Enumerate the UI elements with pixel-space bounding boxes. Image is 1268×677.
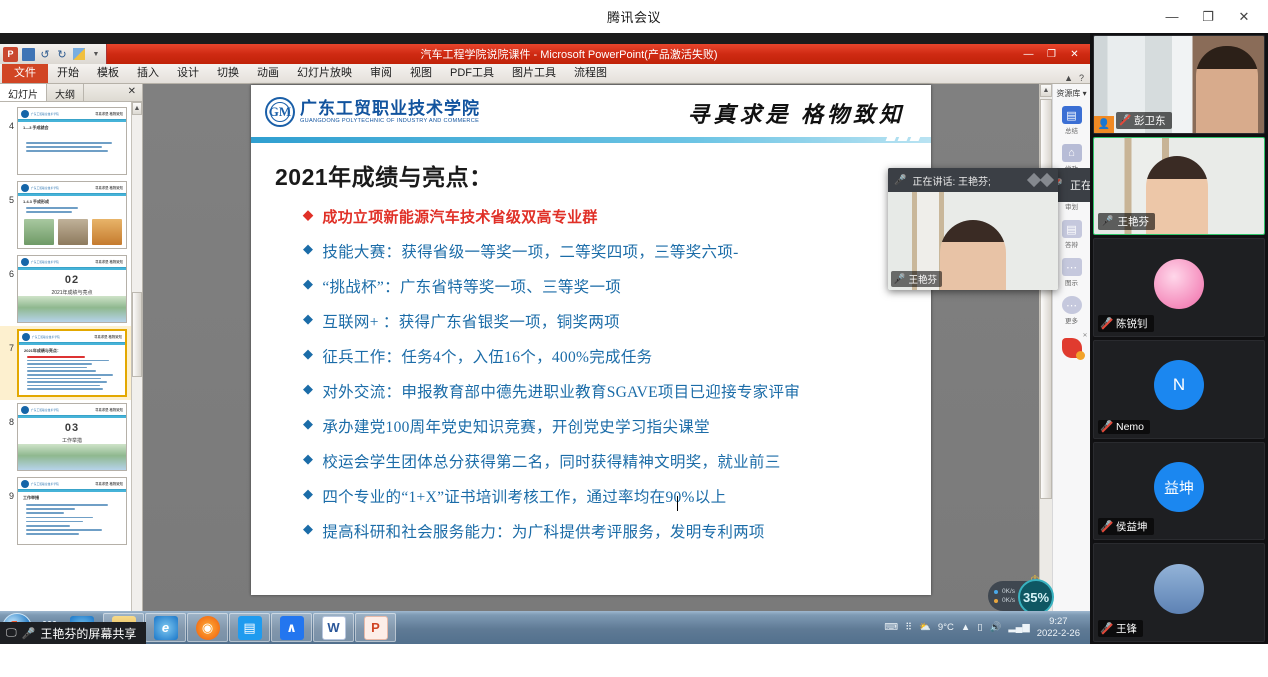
- thumb-photo: [92, 219, 122, 245]
- list-item[interactable]: ◆ 成功立项新能源汽车技术省级双高专业群: [303, 206, 931, 227]
- thumb-photo: [24, 219, 54, 245]
- taskbar-tencent-meeting[interactable]: ∧: [271, 613, 312, 642]
- tencent-meeting-window: 腾讯会议 — ❐ ✕ P ↺ ↻ ▼ 汽车工程学院说院课件 - Microsof…: [0, 0, 1268, 677]
- participant-name: 陈锐钊: [1116, 316, 1148, 331]
- ribbon-tab-bar[interactable]: 文件 开始 模板 插入 设计 切换 动画 幻灯片放映 审阅 视图 PDF工具 图…: [0, 64, 1090, 84]
- bullet-text: 提高科研和社会服务能力：为广科提供考评服务，发明专利两项: [322, 520, 764, 542]
- shared-screen-area: P ↺ ↻ ▼ 汽车工程学院说院课件 - Microsoft PowerPoin…: [0, 33, 1090, 644]
- thumb-calligraphy: 寻真求是 格物致知: [95, 481, 123, 486]
- thumb-city-image: [18, 296, 126, 322]
- bullet-text: 互联网+ ：获得广东省银奖一项，铜奖两项: [322, 310, 620, 332]
- thumb-header: 广东工贸职业技术学院 寻真求是 格物致知: [18, 108, 126, 120]
- powerpoint-minimize-button[interactable]: —: [1018, 46, 1039, 62]
- slide-header: GM 广东工贸职业技术学院 GUANGDONG POLYTECHNIC OF I…: [251, 85, 931, 147]
- header-slash-decor: [888, 129, 921, 141]
- bullet-text: 承办建党100周年党史知识竞赛，开创党史学习指尖课堂: [322, 415, 710, 437]
- meeting-titlebar: 腾讯会议 — ❐ ✕: [0, 0, 1268, 33]
- thumb-calligraphy: 寻真求是 格物致知: [95, 407, 123, 412]
- avatar: [1154, 259, 1204, 309]
- thumb-city-image: [18, 444, 126, 470]
- avatar: 益坤: [1154, 462, 1204, 512]
- ribbon-tab-design[interactable]: 设计: [168, 62, 208, 83]
- tray-clock[interactable]: 9:27 2022-2-26: [1037, 616, 1080, 640]
- bullet-text: 校运会学生团体总分获得第二名，同时获得精神文明奖，就业前三: [322, 450, 780, 472]
- powerpoint-titlebar: P ↺ ↻ ▼ 汽车工程学院说院课件 - Microsoft PowerPoin…: [0, 44, 1090, 64]
- weather-icon[interactable]: ⛅: [919, 622, 931, 633]
- bullet-text: “挑战杯”：广东省特等奖一项、三等奖一项: [322, 275, 621, 297]
- thumb-calligraphy: 寻真求是 格物致知: [95, 111, 123, 116]
- host-icon: 👤: [1094, 116, 1114, 133]
- floating-speaker-video[interactable]: 🎤 正在讲话: 王艳芬; 🎤 王艳芬: [888, 168, 1058, 290]
- scrollbar-thumb[interactable]: [132, 292, 142, 377]
- dock-item-diagram[interactable]: ⋯ 图示: [1062, 258, 1082, 287]
- school-name-cn: 广东工贸职业技术学院: [300, 100, 480, 119]
- pane-tab-slides[interactable]: 幻灯片: [0, 84, 47, 101]
- keyboard-icon[interactable]: ⌨: [884, 622, 898, 633]
- taskbar-word[interactable]: W: [313, 613, 354, 642]
- thumbnail-slide-4[interactable]: 广东工贸职业技术学院 寻真求是 格物致知 1—3 手成就会: [17, 107, 127, 175]
- list-item[interactable]: ◆ 互联网+ ：获得广东省银奖一项，铜奖两项: [303, 310, 931, 332]
- avatar: [1154, 564, 1204, 614]
- meeting-minimize-button[interactable]: —: [1154, 0, 1190, 33]
- participant-name: 王锋: [1116, 621, 1137, 636]
- logo-letters: GM: [269, 104, 291, 120]
- clock-time: 9:27: [1049, 616, 1068, 628]
- thumbnail-number: 6: [2, 255, 14, 279]
- dock-item-label: 更多: [1065, 315, 1078, 325]
- ribbon-tab-flowchart[interactable]: 流程图: [565, 62, 616, 83]
- thumb-org-name: 广东工贸职业技术学院: [31, 112, 59, 116]
- volume-icon[interactable]: 🔊: [990, 622, 1002, 633]
- thumb-content: [26, 207, 121, 213]
- participant-name: 王艳芬: [1117, 214, 1149, 229]
- thumbnail-number: 5: [2, 181, 14, 205]
- school-logo-icon: [21, 406, 29, 414]
- participant-card-0[interactable]: 👤 🎤 彭卫东: [1093, 35, 1265, 134]
- thumb-rule: [18, 194, 126, 196]
- list-item[interactable]: 9 广东工贸职业技术学院 寻真求是 格物致知 工作举措: [0, 474, 142, 548]
- floating-video-title: 正在讲话: 王艳芬;: [912, 173, 990, 188]
- more-icon: ⋯: [1062, 296, 1082, 314]
- school-logo-block: GM 广东工贸职业技术学院 GUANGDONG POLYTECHNIC OF I…: [265, 97, 480, 127]
- participant-rail[interactable]: 👤 🎤 彭卫东 🎤 王艳芬 🎤 陈锐钊 N: [1090, 33, 1268, 644]
- thumbnail-slide-6[interactable]: 广东工贸职业技术学院 寻真求是 格物致知 02 2021年成绩与亮点: [17, 255, 127, 323]
- thumbnail-number: 7: [2, 329, 14, 353]
- floating-video-feed[interactable]: 🎤 王艳芬: [888, 192, 1058, 290]
- meeting-maximize-button[interactable]: ❐: [1190, 0, 1226, 33]
- participant-name: 彭卫东: [1134, 113, 1166, 128]
- thumb-org-name: 广东工贸职业技术学院: [31, 482, 59, 486]
- pane-tab-bar[interactable]: 幻灯片 大纲 ✕: [0, 84, 142, 102]
- weather-temperature: 9°C: [938, 622, 954, 633]
- avatar: N: [1154, 360, 1204, 410]
- dock-item-more[interactable]: ⋯ 更多: [1062, 296, 1082, 325]
- school-logo-icon: [21, 258, 29, 266]
- taskbar-ie-window[interactable]: e: [145, 613, 186, 642]
- list-item[interactable]: 5 广东工贸职业技术学院 寻真求是 格物致知 1.4.3 手成形成: [0, 178, 142, 252]
- person-silhouette: [940, 220, 1006, 290]
- audio-wave-icon: [1029, 175, 1052, 185]
- diamond-bullet-icon: ◆: [303, 345, 313, 363]
- thumb-header: 广东工贸职业技术学院 寻真求是 格物致知: [19, 331, 125, 343]
- list-item[interactable]: ◆ 技能大赛：获得省级一等奖一项，二等奖四项，三等奖六项-: [303, 240, 931, 262]
- powerpoint-window: P ↺ ↻ ▼ 汽车工程学院说院课件 - Microsoft PowerPoin…: [0, 44, 1090, 644]
- participant-badge: 🎤 王锋: [1098, 620, 1143, 637]
- thumb-calligraphy: 寻真求是 格物致知: [95, 185, 123, 190]
- notification-badge[interactable]: ✕: [1062, 338, 1082, 358]
- list-item[interactable]: ◆ 对外交流：申报教育部中德先进职业教育SGAVE项目已迎接专家评审: [303, 380, 931, 402]
- powerpoint-window-controls[interactable]: — ❐ ✕: [1018, 46, 1090, 62]
- list-item[interactable]: ◆ 提高科研和社会服务能力：为广科提供考评服务，发明专利两项: [303, 520, 931, 542]
- list-item[interactable]: ◆ 征兵工作：任务4个，入伍16个，400%完成任务: [303, 345, 931, 367]
- thumb-section-title: 2021年成绩与亮点: [18, 289, 126, 296]
- participant-badge: 🎤 侯益坤: [1098, 518, 1154, 535]
- thumb-header: 广东工贸职业技术学院 寻真求是 格物致知: [18, 478, 126, 490]
- thumb-calligraphy: 寻真求是 格物致知: [95, 259, 123, 264]
- memory-usage-badge[interactable]: 35%: [1018, 579, 1054, 615]
- ribbon-tab-view[interactable]: 视图: [401, 62, 441, 83]
- tencent-meeting-icon: ∧: [280, 616, 304, 640]
- diamond-bullet-icon: ◆: [303, 415, 313, 433]
- header-rule: [251, 137, 931, 143]
- participant-name: Nemo: [1116, 421, 1144, 433]
- mic-on-icon: 🎤: [22, 627, 36, 640]
- diamond-bullet-icon: ◆: [303, 485, 313, 503]
- powerpoint-close-button[interactable]: ✕: [1064, 46, 1085, 62]
- slide-thumbnail-pane: 幻灯片 大纲 ✕ 4 广东工贸职业技术学院 寻真求是 格物致知: [0, 84, 143, 643]
- thumb-header: 广东工贸职业技术学院 寻真求是 格物致知: [18, 404, 126, 416]
- thumb-content: [27, 356, 120, 390]
- school-logo-icon: [21, 184, 29, 192]
- dock-item-defense[interactable]: ▤ 答辩: [1062, 220, 1082, 249]
- floating-video-header: 🎤 正在讲话: 王艳芬;: [888, 168, 1058, 192]
- ribbon-tab-review[interactable]: 审阅: [361, 62, 401, 83]
- system-tray[interactable]: ⌨ ⠿ ⛅ 9°C ▲ ▯ 🔊 ▂▄▆ 9:27 2022-2-26: [884, 616, 1090, 640]
- summary-icon: ▤: [1062, 106, 1082, 124]
- participant-badge: 🎤 王艳芬: [1098, 213, 1155, 230]
- screen-share-icon: 🖵: [6, 627, 17, 640]
- thumb-title: 工作举措: [23, 495, 39, 501]
- wps-icon: ▤: [238, 616, 262, 640]
- list-item[interactable]: 4 广东工贸职业技术学院 寻真求是 格物致知 1—3 手成就会: [0, 104, 142, 178]
- screen-share-label: 🖵 🎤 王艳芬的屏幕共享: [0, 622, 146, 644]
- thumb-org-name: 广东工贸职业技术学院: [32, 335, 60, 339]
- participant-card-2[interactable]: 🎤 陈锐钊: [1093, 238, 1265, 337]
- network-icon[interactable]: ▂▄▆: [1008, 622, 1029, 633]
- thumb-rule: [19, 343, 125, 345]
- avatar-initial: 益坤: [1164, 477, 1194, 498]
- chevron-down-icon[interactable]: ▾: [1083, 89, 1087, 98]
- person-silhouette: [1196, 46, 1258, 134]
- government-icon: ⌂: [1062, 144, 1082, 162]
- list-item[interactable]: ◆ “挑战杯”：广东省特等奖一项、三等奖一项: [303, 275, 931, 297]
- ribbon-tab-insert[interactable]: 插入: [128, 62, 168, 83]
- undo-icon[interactable]: ↺: [38, 47, 52, 61]
- close-pane-icon[interactable]: ✕: [122, 84, 142, 101]
- thumbnail-number: 8: [2, 403, 14, 427]
- diamond-bullet-icon: ◆: [303, 275, 313, 293]
- ribbon-collapse-icon[interactable]: ▲: [1064, 73, 1073, 83]
- participant-badge: 🎤 陈锐钊: [1098, 315, 1154, 332]
- thumbnail-number: 4: [2, 107, 14, 131]
- diamond-bullet-icon: ◆: [303, 206, 313, 224]
- taskbar-browser[interactable]: ◉: [187, 613, 228, 642]
- thumb-rule: [18, 416, 126, 418]
- redo-icon[interactable]: ↻: [55, 47, 69, 61]
- diagram-icon: ⋯: [1062, 258, 1082, 276]
- thumb-title: 2021年成绩与亮点：: [24, 348, 61, 354]
- meeting-window-controls[interactable]: — ❐ ✕: [1154, 0, 1262, 33]
- thumb-calligraphy: 寻真求是 格物致知: [94, 334, 122, 339]
- dock-header[interactable]: 资源库 ▾: [1056, 88, 1086, 99]
- diamond-bullet-icon: ◆: [303, 520, 313, 538]
- dock-item-label: 总结: [1065, 125, 1078, 135]
- school-logo-icon: [21, 480, 29, 488]
- new-slide-icon[interactable]: [72, 47, 86, 61]
- mic-on-icon: 🎤: [894, 175, 906, 186]
- defense-icon: ▤: [1062, 220, 1082, 238]
- dock-item-summary[interactable]: ▤ 总结: [1062, 106, 1082, 135]
- person-silhouette: [1146, 156, 1208, 236]
- scroll-up-icon[interactable]: ▲: [132, 102, 142, 115]
- thumb-content: [26, 142, 121, 152]
- powerpoint-restore-button[interactable]: ❐: [1041, 46, 1062, 62]
- save-icon[interactable]: [21, 47, 35, 61]
- school-names: 广东工贸职业技术学院 GUANGDONG POLYTECHNIC OF INDU…: [300, 100, 480, 125]
- thumbnail-slide-8[interactable]: 广东工贸职业技术学院 寻真求是 格物致知 03 工作举措: [17, 403, 127, 471]
- slide-bullet-list[interactable]: ◆ 成功立项新能源汽车技术省级双高专业群 ◆ 技能大赛：获得省级一等奖一项，二等…: [303, 206, 931, 542]
- thumb-org-name: 广东工贸职业技术学院: [31, 260, 59, 264]
- thumbnail-slide-5[interactable]: 广东工贸职业技术学院 寻真求是 格物致知 1.4.3 手成形成: [17, 181, 127, 249]
- mic-on-icon: 🎤: [893, 274, 905, 285]
- dock-item-label: 答辩: [1065, 239, 1078, 249]
- share-label-text: 王艳芬的屏幕共享: [40, 625, 136, 642]
- thumbnail-slide-9[interactable]: 广东工贸职业技术学院 寻真求是 格物致知 工作举措: [17, 477, 127, 545]
- mic-muted-icon: 🎤: [1101, 421, 1112, 433]
- thumb-photo: [58, 219, 88, 245]
- upload-speed: 0K/s: [1002, 597, 1015, 604]
- ribbon-tab-picture-tools[interactable]: 图片工具: [503, 62, 565, 83]
- thumb-header: 广东工贸职业技术学院 寻真求是 格物致知: [18, 256, 126, 268]
- mic-muted-icon: 🎤: [1101, 521, 1112, 533]
- thumb-org-name: 广东工贸职业技术学院: [31, 408, 59, 412]
- participant-badge: 🎤 Nemo: [1098, 420, 1150, 434]
- thumbnail-scrollbar[interactable]: ▲ ▼: [131, 102, 142, 643]
- diamond-bullet-icon: ◆: [303, 450, 313, 468]
- school-logo-icon: [22, 333, 30, 341]
- mic-muted-icon: 🎤: [1119, 114, 1130, 126]
- scroll-up-icon[interactable]: ▲: [1040, 84, 1052, 97]
- school-logo-icon: [21, 110, 29, 118]
- input-method-icon[interactable]: ⠿: [905, 622, 912, 633]
- ribbon-tab-slideshow[interactable]: 幻灯片放映: [288, 62, 361, 83]
- battery-icon[interactable]: ▯: [977, 622, 982, 633]
- clock-date: 2022-2-26: [1037, 628, 1080, 640]
- list-item[interactable]: 7 广东工贸职业技术学院 寻真求是 格物致知 2021年成绩与亮点：: [0, 326, 142, 400]
- slide-calligraphy-motto: 寻真求是 格物致知: [687, 97, 905, 129]
- thumb-rule: [18, 120, 126, 122]
- page-title: 2021年成绩与亮点：: [275, 158, 931, 192]
- browser-icon: ◉: [196, 616, 220, 640]
- dock-item-label: 审划: [1065, 201, 1078, 211]
- thumb-title: 1—3 手成就会: [23, 125, 49, 131]
- bullet-text: 对外交流：申报教育部中德先进职业教育SGAVE项目已迎接专家评审: [322, 380, 800, 402]
- taskbar-wps[interactable]: ▤: [229, 613, 270, 642]
- avatar-initial: N: [1173, 375, 1185, 395]
- ribbon-right-controls[interactable]: ▲ ?: [1064, 73, 1090, 83]
- participant-card-1[interactable]: 🎤 王艳芬: [1093, 137, 1265, 236]
- bullet-text: 四个专业的“1+X”证书培训考核工作，通过率均在90%以上: [322, 485, 726, 507]
- windows-taskbar[interactable]: e ▤ e ◉ ▤ ∧ W P ⌨ ⠿ ⛅ 9°C ▲ ▯ 🔊 ▂▄▆ 9:27…: [0, 611, 1090, 644]
- quick-access-toolbar[interactable]: P ↺ ↻ ▼: [0, 44, 107, 64]
- mic-on-icon: 🎤: [1101, 216, 1113, 227]
- floating-video-name-badge: 🎤 王艳芬: [891, 271, 942, 287]
- thumb-section-title: 工作举措: [18, 437, 126, 444]
- thumb-section-number: 02: [18, 274, 126, 286]
- list-item[interactable]: 6 广东工贸职业技术学院 寻真求是 格物致知 02 2021: [0, 252, 142, 326]
- thumb-section-number: 03: [18, 422, 126, 434]
- ribbon-tab-transitions[interactable]: 切换: [208, 62, 248, 83]
- thumb-content: [26, 504, 121, 535]
- participant-card-3[interactable]: N 🎤 Nemo: [1093, 340, 1265, 439]
- bullet-text: 成功立项新能源汽车技术省级双高专业群: [322, 206, 597, 227]
- download-speed: 0K/s: [1002, 588, 1015, 595]
- participant-card-5[interactable]: 🎤 王锋: [1093, 543, 1265, 642]
- list-item[interactable]: ◆ 校运会学生团体总分获得第二名，同时获得精神文明奖，就业前三: [303, 450, 931, 472]
- text-cursor: [677, 496, 678, 511]
- pane-tab-outline[interactable]: 大纲: [47, 84, 84, 101]
- mic-muted-icon: 🎤: [1101, 623, 1112, 635]
- current-slide[interactable]: GM 广东工贸职业技术学院 GUANGDONG POLYTECHNIC OF I…: [251, 85, 931, 595]
- dock-header-label: 资源库: [1056, 89, 1080, 98]
- ribbon-help-icon[interactable]: ?: [1079, 73, 1084, 83]
- thumb-rule: [18, 268, 126, 270]
- word-icon: W: [322, 616, 346, 640]
- ribbon-tab-template[interactable]: 模板: [88, 62, 128, 83]
- diamond-bullet-icon: ◆: [303, 380, 313, 398]
- list-item[interactable]: 8 广东工贸职业技术学院 寻真求是 格物致知 03 工作举措: [0, 400, 142, 474]
- download-indicator-icon: [994, 590, 998, 594]
- thumbnail-slide-7-selected[interactable]: 广东工贸职业技术学院 寻真求是 格物致知 2021年成绩与亮点：: [17, 329, 127, 397]
- thumbnail-list[interactable]: 4 广东工贸职业技术学院 寻真求是 格物致知 1—3 手成就会: [0, 102, 142, 643]
- participant-badge: 🎤 彭卫东: [1116, 112, 1172, 129]
- meeting-close-button[interactable]: ✕: [1226, 0, 1262, 33]
- school-logo-icon: GM: [265, 97, 295, 127]
- thumb-title: 1.4.3 手成形成: [23, 199, 49, 205]
- bullet-text: 技能大赛：获得省级一等奖一项，二等奖四项，三等奖六项-: [322, 240, 738, 262]
- internet-explorer-window-icon: e: [154, 616, 178, 640]
- school-name-en: GUANGDONG POLYTECHNIC OF INDUSTRY AND CO…: [300, 118, 480, 124]
- eject-icon[interactable]: ▲: [961, 622, 970, 633]
- powerpoint-title: 汽车工程学院说院课件 - Microsoft PowerPoint(产品激活失败…: [0, 46, 1018, 62]
- ribbon-tab-home[interactable]: 开始: [48, 62, 88, 83]
- meeting-app-title: 腾讯会议: [607, 7, 661, 26]
- powerpoint-logo-icon: P: [3, 47, 18, 62]
- participant-name: 王艳芬: [908, 272, 937, 286]
- close-icon[interactable]: ✕: [1082, 332, 1087, 339]
- diamond-bullet-icon: ◆: [303, 310, 313, 328]
- dock-item-label: 图示: [1065, 277, 1078, 287]
- bullet-text: 征兵工作：任务4个，入伍16个，400%完成任务: [322, 345, 652, 367]
- list-item[interactable]: ◆ 承办建党100周年党史知识竞赛，开创党史学习指尖课堂: [303, 415, 931, 437]
- powerpoint-icon: P: [364, 616, 388, 640]
- thumb-header: 广东工贸职业技术学院 寻真求是 格物致知: [18, 182, 126, 194]
- customize-quick-access-icon[interactable]: ▼: [89, 47, 103, 61]
- ribbon-tab-file[interactable]: 文件: [2, 61, 48, 83]
- thumbnail-number: 9: [2, 477, 14, 501]
- ribbon-tab-animations[interactable]: 动画: [248, 62, 288, 83]
- list-item[interactable]: ◆ 四个专业的“1+X”证书培训考核工作，通过率均在90%以上: [303, 485, 931, 507]
- participant-name: 侯益坤: [1116, 519, 1148, 534]
- upload-indicator-icon: [994, 599, 998, 603]
- participant-card-4[interactable]: 益坤 🎤 侯益坤: [1093, 442, 1265, 541]
- ribbon-tab-pdf-tools[interactable]: PDF工具: [441, 62, 503, 83]
- taskbar-powerpoint[interactable]: P: [355, 613, 396, 642]
- thumb-rule: [18, 490, 126, 492]
- thumb-org-name: 广东工贸职业技术学院: [31, 186, 59, 190]
- mic-muted-icon: 🎤: [1101, 318, 1112, 330]
- diamond-bullet-icon: ◆: [303, 240, 313, 258]
- scrollbar-thumb[interactable]: [1040, 99, 1052, 499]
